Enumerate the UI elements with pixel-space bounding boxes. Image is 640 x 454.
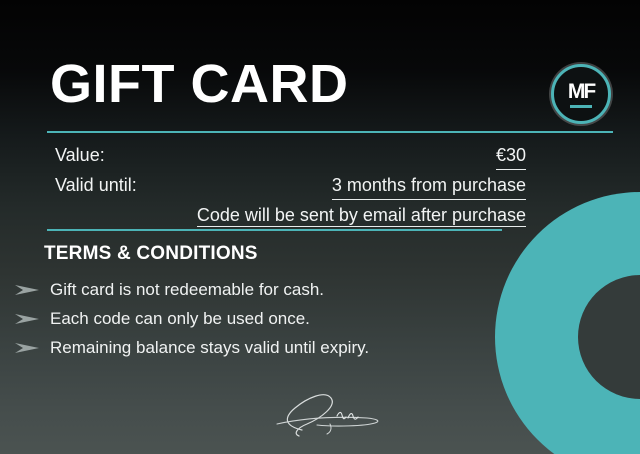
detail-value: €30 xyxy=(496,142,526,170)
mf-logo: MF xyxy=(551,64,611,124)
arrow-bullet-icon xyxy=(14,282,42,298)
term-text: Gift card is not redeemable for cash. xyxy=(50,278,324,302)
divider-top xyxy=(47,131,613,133)
terms-section: TERMS & CONDITIONS Gift card is not rede… xyxy=(44,243,369,365)
signature-mark xyxy=(255,378,390,440)
page-title: GIFT CARD xyxy=(50,57,348,111)
detail-value: 3 months from purchase xyxy=(332,172,526,200)
arrow-bullet-icon xyxy=(14,340,42,356)
detail-row: Valid until: 3 months from purchase xyxy=(55,172,526,200)
list-item: Each code can only be used once. xyxy=(44,307,369,331)
card-header: GIFT CARD MF xyxy=(0,0,640,126)
detail-row: Value: €30 xyxy=(55,142,526,170)
divider-middle xyxy=(47,229,502,231)
detail-label: Valid until: xyxy=(55,172,137,198)
logo-monogram-text: MF xyxy=(568,81,594,102)
list-item: Gift card is not redeemable for cash. xyxy=(44,278,369,302)
card-details: Value: €30 Valid until: 3 months from pu… xyxy=(55,142,526,228)
arrow-bullet-icon xyxy=(14,311,42,327)
detail-label: Value: xyxy=(55,142,105,168)
term-text: Remaining balance stays valid until expi… xyxy=(50,336,369,360)
delivery-note-text: Code will be sent by email after purchas… xyxy=(197,205,526,227)
gift-card: GIFT CARD MF Value: €30 Valid until: 3 m… xyxy=(0,0,640,454)
logo-underline-bar xyxy=(570,105,592,108)
term-text: Each code can only be used once. xyxy=(50,307,310,331)
delivery-note: Code will be sent by email after purchas… xyxy=(55,202,526,228)
list-item: Remaining balance stays valid until expi… xyxy=(44,336,369,360)
terms-heading: TERMS & CONDITIONS xyxy=(44,243,369,265)
